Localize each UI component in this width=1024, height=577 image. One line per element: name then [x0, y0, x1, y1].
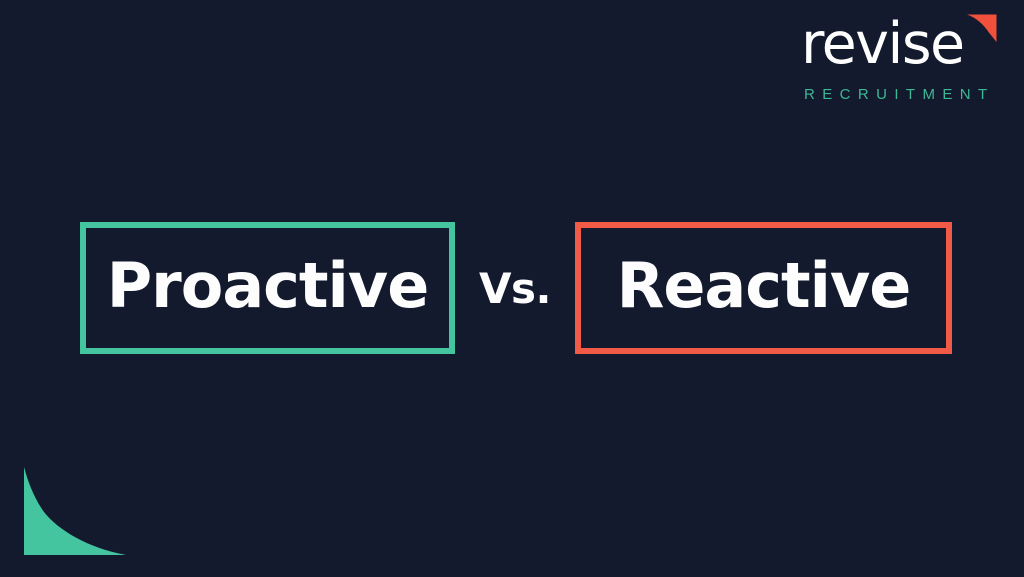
comparison-row: Proactive Vs. Reactive [0, 222, 1024, 354]
reactive-label: Reactive [617, 255, 911, 317]
proactive-term-box: Proactive [80, 222, 455, 354]
teal-corner-bracket-icon [18, 460, 128, 577]
revise-recruitment-logo: revise RECRUITMENT [795, 10, 1000, 105]
proactive-label: Proactive [107, 255, 429, 317]
red-corner-wedge-icon [964, 13, 998, 45]
logo-wordmark: revise [801, 16, 964, 73]
reactive-term-box: Reactive [575, 222, 952, 354]
logo-subtitle: RECRUITMENT [804, 86, 995, 103]
slide-canvas: revise RECRUITMENT Proactive Vs. Reactiv… [0, 0, 1024, 577]
versus-separator: Vs. [455, 222, 575, 354]
